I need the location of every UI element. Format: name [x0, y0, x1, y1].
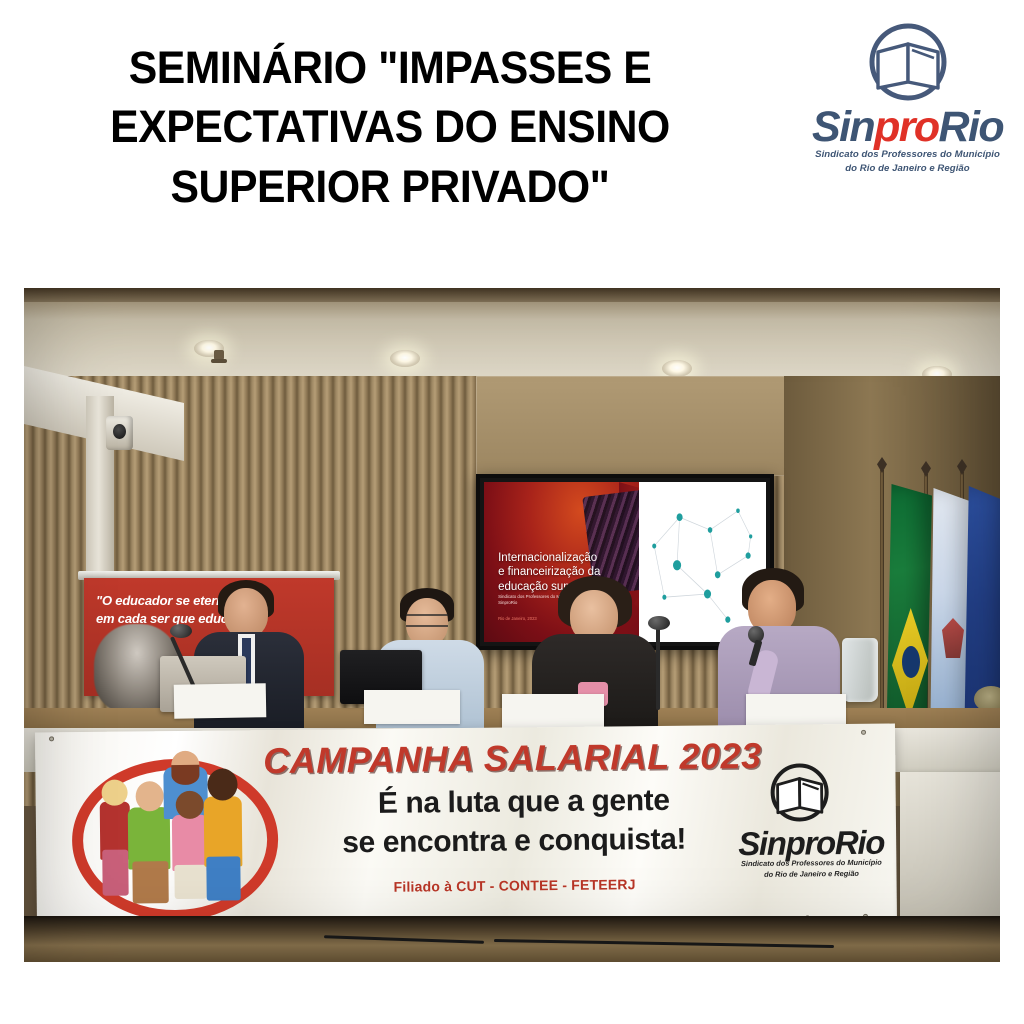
side-cabinet [900, 772, 1000, 922]
wall-panel [476, 376, 786, 476]
logo-word-rio: Rio [939, 103, 1003, 151]
logo-tagline: Sindicato dos Professores do Município d… [800, 148, 1015, 176]
microphone-stand [656, 624, 660, 710]
brazil-flag-globe [902, 646, 920, 678]
sinprorio-logo: SinproRio Sindicato dos Professores do M… [800, 22, 1015, 182]
microphone-icon [170, 624, 192, 638]
banner-sinprorio-logo: SinproRio Sindicato dos Professores do M… [725, 762, 896, 894]
nameplate [502, 694, 604, 728]
page-title: SEMINÁRIO "IMPASSES E EXPECTATIVAS DO EN… [39, 38, 742, 216]
ceiling-shadow [24, 288, 1000, 302]
banner-logo-word-sin: Sin [738, 825, 786, 862]
banner-logo-word-pro: pro [785, 824, 835, 862]
page-header: SEMINÁRIO "IMPASSES E EXPECTATIVAS DO EN… [0, 0, 1024, 288]
event-photograph: Internacionalização e financeirização da… [24, 288, 1000, 962]
fire-sprinkler-icon [214, 350, 224, 363]
campanha-salarial-banner: CAMPANHA SALARIAL 2023 É na luta que a g… [35, 724, 897, 933]
ceiling-downlight [662, 360, 692, 377]
banner-logo-tagline: Sindicato dos Professores do Município d… [726, 857, 896, 880]
eyeglasses-icon [406, 614, 448, 627]
open-book-in-circle-icon [860, 22, 956, 104]
logo-word-sin: Sin [812, 103, 874, 151]
teachers-illustration [65, 748, 263, 910]
logo-wordmark: SinproRio [800, 106, 1015, 149]
banner-title: CAMPANHA SALARIAL 2023 [263, 735, 783, 782]
logo-word-pro: pro [874, 103, 938, 151]
wall-speaker-icon [106, 416, 133, 450]
nameplate [174, 683, 267, 719]
open-book-in-circle-icon [763, 762, 836, 825]
microphone-icon [648, 616, 670, 630]
ceiling-downlight [390, 350, 420, 367]
banner-slogan-line-2: se encontra e conquista! [274, 822, 754, 861]
banner-affiliation: Filiado à CUT - CONTEE - FETEERJ [305, 875, 725, 895]
nameplate [364, 690, 460, 724]
water-pitcher [842, 638, 878, 702]
nameplate [746, 694, 846, 728]
banner-slogan-line-1: É na luta que a gente [284, 783, 764, 822]
banner-logo-word-rio: Rio [835, 824, 885, 862]
